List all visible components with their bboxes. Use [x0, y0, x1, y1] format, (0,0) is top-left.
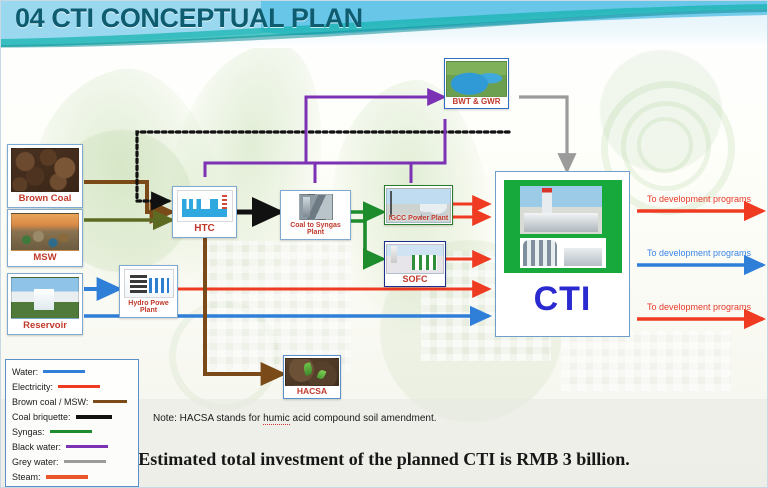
process-node-hydro[interactable]: Hydro Powe Plant: [119, 265, 178, 318]
hydro-plant-photo: [124, 269, 174, 298]
dam-reservoir-photo: [11, 277, 79, 319]
legend-swatch-syngas: [50, 430, 92, 433]
legend-item-grey-water: Grey water:: [12, 454, 138, 469]
process-node-bwt-gwr[interactable]: BWT & GWR: [444, 58, 509, 109]
process-label-igcc: IGCC Power Plant: [385, 214, 452, 224]
process-node-htc[interactable]: HTC: [172, 186, 237, 238]
legend-label-steam: Steam:: [12, 472, 41, 482]
legend-item-steam: Steam:: [12, 469, 138, 484]
legend-label-syngas: Syngas:: [12, 427, 45, 437]
seedling-soil-photo: [285, 358, 339, 386]
output-label-2: To development programs: [647, 248, 751, 258]
source-node-reservoir[interactable]: Reservoir: [7, 273, 83, 335]
legend-item-brown-coal-msw: Brown coal / MSW:: [12, 394, 138, 409]
process-label-hydro: Hydro Powe Plant: [120, 299, 177, 317]
process-node-hacsa[interactable]: HACSA: [283, 355, 341, 399]
legend-swatch-water: [43, 370, 85, 373]
legend-swatch-black-water: [66, 445, 108, 448]
note-suffix: acid compound soil amendment.: [290, 413, 437, 424]
source-label-brown-coal: Brown Coal: [8, 193, 82, 207]
source-label-msw: MSW: [8, 252, 82, 266]
output-label-1: To development programs: [647, 194, 751, 204]
process-label-coal-to-syngas: Coal to Syngas Plant: [281, 221, 350, 239]
process-label-sofc: SOFC: [385, 274, 445, 286]
legend-item-black-water: Black water:: [12, 439, 138, 454]
water-treatment-photo: [446, 61, 507, 97]
legend-label-brown-coal-msw: Brown coal / MSW:: [12, 397, 88, 407]
note-prefix: Note: HACSA stands for: [153, 413, 263, 424]
fuel-cell-photo: [386, 244, 444, 274]
note-underlined: humic: [263, 413, 290, 425]
process-node-igcc[interactable]: IGCC Power Plant: [384, 185, 453, 225]
page-title: 04 CTI CONCEPTUAL PLAN: [15, 3, 363, 34]
waste-landfill-photo: [11, 213, 79, 251]
legend-swatch-electricity: [58, 385, 100, 388]
legend-swatch-steam: [46, 475, 88, 479]
legend-item-electricity: Electricity:: [12, 379, 138, 394]
flow-greywater-to-cti: [519, 97, 567, 171]
coal-pile-photo: [11, 148, 79, 192]
output-label-3: To development programs: [647, 302, 751, 312]
legend-item-water: Water:: [12, 364, 138, 379]
cti-tanks-photo: [520, 238, 606, 268]
cti-label: CTI: [496, 280, 629, 319]
flow-htc-to-hacsa: [205, 237, 283, 374]
flow-htc-blackwater: [205, 147, 445, 177]
process-label-bwt-gwr: BWT & GWR: [445, 97, 508, 108]
process-label-htc: HTC: [173, 223, 236, 237]
legend-swatch-brown-coal-msw: [93, 400, 127, 403]
slide-canvas: ✦ ✦ ✦ 04 CTI CONCEPTUAL PLAN: [0, 0, 768, 488]
legend-item-syngas: Syngas:: [12, 424, 138, 439]
source-node-brown-coal[interactable]: Brown Coal: [7, 144, 83, 208]
process-node-coal-to-syngas[interactable]: Coal to Syngas Plant: [280, 190, 351, 240]
note-text: Note: HACSA stands for humic acid compou…: [153, 413, 437, 424]
legend-label-black-water: Black water:: [12, 442, 61, 452]
legend-label-coal-briquette: Coal briquette:: [12, 412, 71, 422]
legend-panel: Water: Electricity: Brown coal / MSW: Co…: [5, 359, 139, 487]
cti-image-panel: [504, 180, 622, 273]
cti-plant-photo: [520, 186, 602, 234]
legend-label-water: Water:: [12, 367, 38, 377]
gasifier-photo: [299, 194, 333, 220]
legend-swatch-coal-briquette: [76, 415, 112, 419]
process-label-hacsa: HACSA: [284, 386, 340, 398]
source-label-reservoir: Reservoir: [8, 320, 82, 334]
flow-browncoal-to-htc: [84, 182, 172, 212]
source-node-msw[interactable]: MSW: [7, 209, 83, 267]
htc-chart-photo: [177, 190, 233, 222]
flow-blackwater-to-bwt: [306, 97, 444, 145]
legend-label-electricity: Electricity:: [12, 382, 53, 392]
cti-node[interactable]: CTI: [495, 171, 630, 337]
legend-label-grey-water: Grey water:: [12, 457, 59, 467]
flow-syngas-to-sofc: [351, 221, 383, 259]
legend-swatch-grey-water: [64, 460, 106, 463]
process-node-sofc[interactable]: SOFC: [384, 241, 446, 287]
legend-item-coal-briquette: Coal briquette:: [12, 409, 138, 424]
